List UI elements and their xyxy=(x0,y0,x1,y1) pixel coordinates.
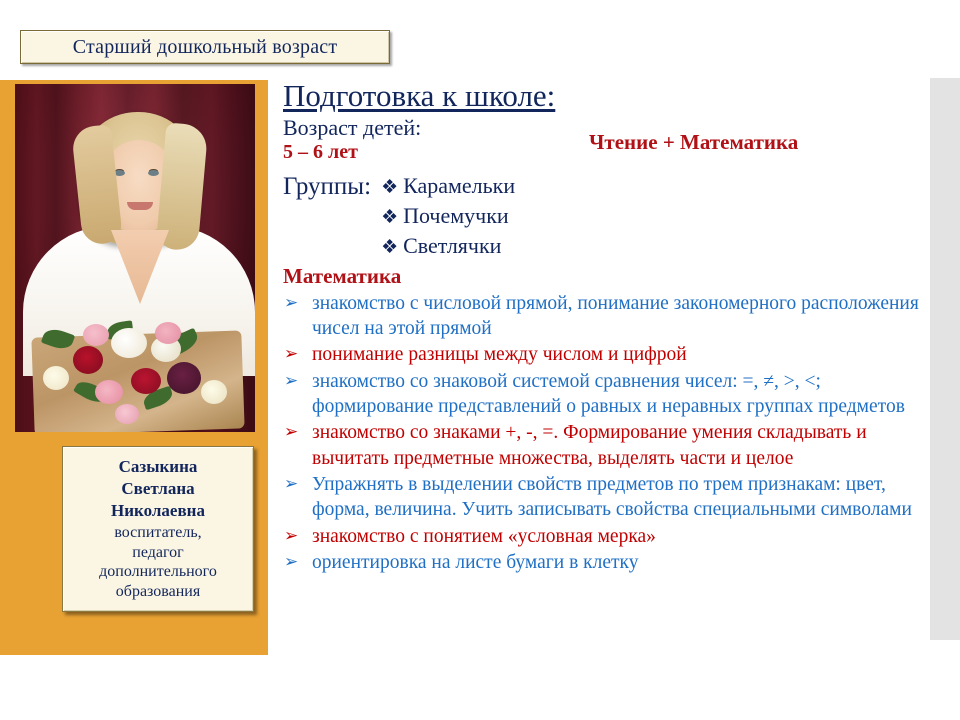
group-item: ❖ Почемучки xyxy=(381,201,515,231)
age-group-badge: Старший дошкольный возраст xyxy=(20,30,390,64)
diamond-bullet-icon: ❖ xyxy=(381,175,403,201)
photo-eye-right xyxy=(148,170,159,176)
arrow-bullet-icon: ➢ xyxy=(283,524,312,549)
teacher-photo xyxy=(15,84,255,432)
math-list-item-text: знакомство со знаками +, -, =. Формирова… xyxy=(312,420,923,471)
slide-title: Подготовка к школе: xyxy=(283,80,923,113)
arrow-bullet-icon: ➢ xyxy=(283,472,312,497)
math-list-item-text: ориентировка на листе бумаги в клетку xyxy=(312,550,923,575)
arrow-bullet-icon: ➢ xyxy=(283,342,312,367)
arrow-bullet-icon: ➢ xyxy=(283,420,312,445)
arrow-bullet-icon: ➢ xyxy=(283,369,312,394)
diamond-bullet-icon: ❖ xyxy=(381,235,403,261)
group-item: ❖ Светлячки xyxy=(381,231,515,261)
group-item-label: Светлячки xyxy=(403,231,501,261)
teacher-name-line: Николаевна xyxy=(69,500,247,522)
photo-flower-red xyxy=(131,368,161,394)
math-list-item-text: знакомство со знаковой системой сравнени… xyxy=(312,369,923,420)
math-list-item: ➢ ориентировка на листе бумаги в клетку xyxy=(283,550,923,575)
math-list-item: ➢ знакомство с числовой прямой, понимани… xyxy=(283,291,923,342)
math-list-item: ➢ знакомство с понятием «условная мерка» xyxy=(283,524,923,549)
slide-content: Подготовка к школе: Возраст детей: 5 – 6… xyxy=(283,80,923,576)
groups-block: Группы: ❖ Карамельки ❖ Почемучки ❖ Светл… xyxy=(283,171,923,261)
photo-flower-red xyxy=(73,346,103,374)
teacher-role-line: образования xyxy=(69,582,247,602)
groups-label: Группы: xyxy=(283,171,381,203)
teacher-role-line: педагог xyxy=(69,543,247,563)
teacher-role-line: дополнительного xyxy=(69,562,247,582)
arrow-bullet-icon: ➢ xyxy=(283,291,312,316)
math-list-item: ➢ понимание разницы между числом и цифро… xyxy=(283,342,923,367)
photo-mouth xyxy=(127,202,153,210)
math-list-item: ➢ знакомство со знаковой системой сравне… xyxy=(283,369,923,420)
group-item-label: Карамельки xyxy=(403,171,515,201)
right-side-panel xyxy=(930,78,960,640)
photo-flower-burgundy xyxy=(167,362,201,394)
teacher-caption-box: Сазыкина Светлана Николаевна воспитатель… xyxy=(62,446,254,612)
teacher-name: Сазыкина Светлана Николаевна xyxy=(69,456,247,522)
math-list-item-text: знакомство с числовой прямой, понимание … xyxy=(312,291,923,342)
photo-flower-white xyxy=(111,328,147,358)
photo-flower-pink xyxy=(155,322,181,344)
photo-flower-pink xyxy=(115,404,139,424)
subjects-heading: Чтение + Математика xyxy=(589,130,798,155)
math-objectives-list: ➢ знакомство с числовой прямой, понимани… xyxy=(283,291,923,576)
math-list-item-text: знакомство с понятием «условная мерка» xyxy=(312,524,923,549)
teacher-role: воспитатель, педагог дополнительного обр… xyxy=(69,523,247,601)
photo-flower-cream xyxy=(201,380,227,404)
diamond-bullet-icon: ❖ xyxy=(381,205,403,231)
photo-flower-pink xyxy=(95,380,123,404)
math-list-item-text: Упражнять в выделении свойств предметов … xyxy=(312,472,923,523)
arrow-bullet-icon: ➢ xyxy=(283,550,312,575)
groups-list: ❖ Карамельки ❖ Почемучки ❖ Светлячки xyxy=(381,171,515,261)
math-list-item: ➢ знакомство со знаками +, -, =. Формиро… xyxy=(283,420,923,471)
group-item-label: Почемучки xyxy=(403,201,509,231)
math-list-item-text: понимание разницы между числом и цифрой xyxy=(312,342,923,367)
teacher-name-line: Светлана xyxy=(69,478,247,500)
group-item: ❖ Карамельки xyxy=(381,171,515,201)
photo-flower-pink xyxy=(83,324,109,346)
teacher-role-line: воспитатель, xyxy=(69,523,247,543)
age-group-badge-label: Старший дошкольный возраст xyxy=(73,36,338,59)
math-section-title: Математика xyxy=(283,265,923,288)
teacher-name-line: Сазыкина xyxy=(69,456,247,478)
photo-flower-cream xyxy=(43,366,69,390)
math-list-item: ➢ Упражнять в выделении свойств предмето… xyxy=(283,472,923,523)
